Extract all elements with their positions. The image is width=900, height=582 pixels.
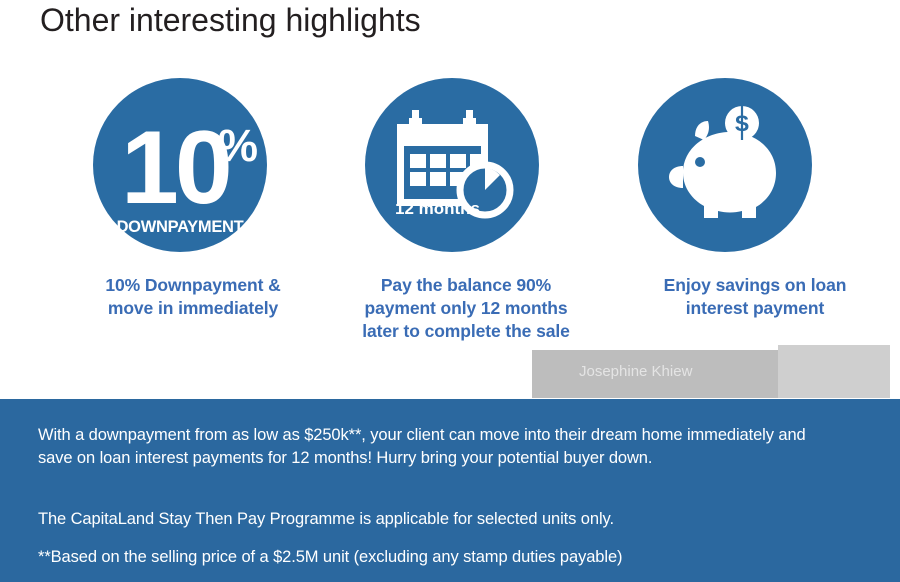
- svg-text:%: %: [218, 120, 258, 171]
- caption-line: Pay the balance 90%: [321, 274, 611, 297]
- calendar-clock-icon: 12 months: [365, 78, 539, 252]
- savings-caption: Enjoy savings on loan interest payment: [615, 274, 895, 320]
- caption-line: move in immediately: [53, 297, 333, 320]
- highlight-item-downpayment: 10 % DOWNPAYMENT 10% Downpayment & move …: [30, 78, 330, 320]
- caption-line: 10% Downpayment &: [53, 274, 333, 297]
- twelve-months-circle: 12 months: [365, 78, 539, 252]
- page-title: Other interesting highlights: [40, 2, 421, 39]
- caption-line: interest payment: [615, 297, 895, 320]
- savings-circle: S: [638, 78, 812, 252]
- overlay-name-label: Josephine Khiew: [579, 363, 692, 380]
- footer-paragraph-2: The CapitaLand Stay Then Pay Programme i…: [38, 508, 843, 531]
- name-overlay-box[interactable]: Josephine Khiew: [532, 350, 890, 398]
- caption-line: payment only 12 months: [321, 297, 611, 320]
- footer-paragraph-1: With a downpayment from as low as $250k*…: [38, 424, 843, 470]
- footer-band: With a downpayment from as low as $250k*…: [0, 399, 900, 582]
- slide-canvas: Other interesting highlights 10 % DOWNPA…: [0, 0, 900, 582]
- svg-text:12 months: 12 months: [395, 199, 480, 218]
- highlights-row: 10 % DOWNPAYMENT 10% Downpayment & move …: [0, 78, 900, 358]
- downpayment-caption: 10% Downpayment & move in immediately: [53, 274, 333, 320]
- highlight-item-twelve-months: 12 months Pay the balance 90% payment on…: [303, 78, 603, 343]
- svg-text:10: 10: [121, 110, 229, 226]
- svg-text:DOWNPAYMENT: DOWNPAYMENT: [117, 218, 244, 236]
- caption-line: Enjoy savings on loan: [615, 274, 895, 297]
- highlight-item-savings: S Enjoy savings on loan interest payment: [575, 78, 875, 320]
- downpayment-circle: 10 % DOWNPAYMENT: [93, 78, 267, 252]
- twelve-months-caption: Pay the balance 90% payment only 12 mont…: [321, 274, 611, 343]
- overlay-highlight-region: [778, 345, 890, 398]
- piggy-bank-icon: S: [638, 78, 812, 252]
- caption-line: later to complete the sale: [321, 320, 611, 343]
- percent-downpayment-icon: 10 % DOWNPAYMENT: [93, 78, 267, 252]
- footer-paragraph-3: **Based on the selling price of a $2.5M …: [38, 546, 868, 569]
